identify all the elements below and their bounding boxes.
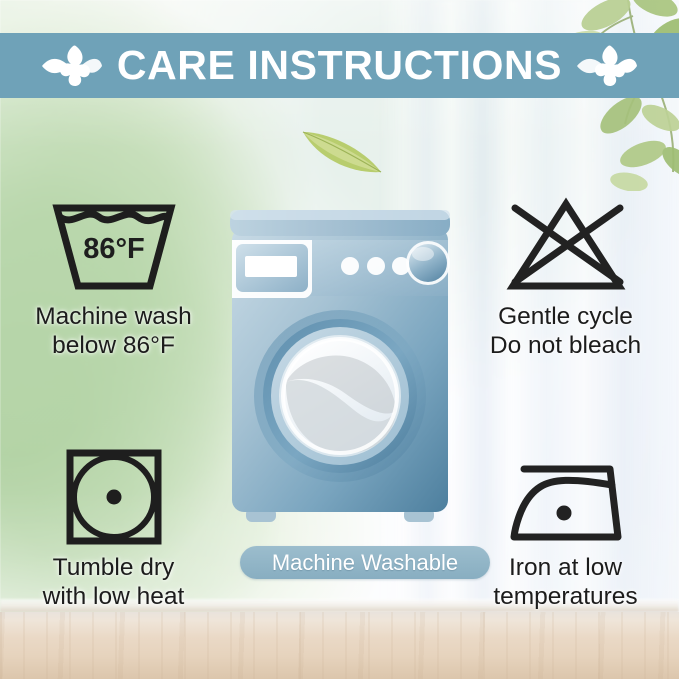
care-label-tumble-dry: Tumble dry with low heat xyxy=(6,554,221,611)
fleur-de-lis-ornament-right-icon xyxy=(576,43,638,89)
care-symbol-iron-low: Iron at low temperatures xyxy=(458,447,673,611)
care-symbol-no-bleach: Gentle cycle Do not bleach xyxy=(458,196,673,360)
care-symbol-tumble-dry: Tumble dry with low heat xyxy=(6,447,221,611)
wash-tub-icon: 86°F xyxy=(6,196,221,296)
fleur-de-lis-ornament-left-icon xyxy=(41,43,103,89)
triangle-crossed-no-bleach-icon xyxy=(458,196,673,296)
care-label-machine-wash: Machine wash below 86°F xyxy=(6,303,221,360)
care-symbol-machine-wash: 86°F Machine wash below 86°F xyxy=(6,196,221,360)
care-label-iron-low: Iron at low temperatures xyxy=(458,554,673,611)
washing-machine-illustration xyxy=(228,206,452,536)
wash-temperature-value: 86°F xyxy=(83,233,145,265)
care-label-no-bleach: Gentle cycle Do not bleach xyxy=(458,303,673,360)
page-title: CARE INSTRUCTIONS xyxy=(117,45,562,86)
wooden-table-surface xyxy=(0,612,679,679)
machine-washable-badge-label: Machine Washable xyxy=(272,552,458,574)
iron-low-temperature-icon xyxy=(458,447,673,547)
care-instructions-infographic: CARE INSTRUCTIONS 86°F Machine wash b xyxy=(0,0,679,679)
machine-washable-badge: Machine Washable xyxy=(240,546,490,579)
header-banner: CARE INSTRUCTIONS xyxy=(0,33,679,98)
falling-leaf-icon xyxy=(299,122,385,178)
tumble-dry-low-icon xyxy=(6,447,221,547)
